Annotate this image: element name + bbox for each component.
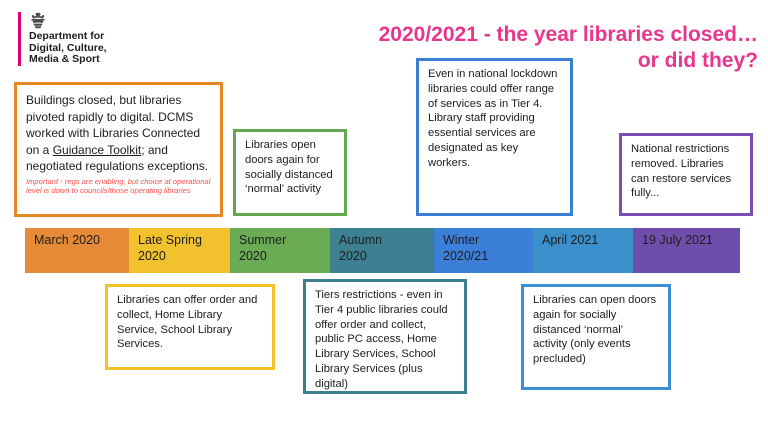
callout-orange-text: Buildings closed, but libraries pivoted … bbox=[26, 92, 212, 175]
callout-box-march-2020: Buildings closed, but libraries pivoted … bbox=[14, 82, 223, 217]
timeline-segment-april-2021[interactable]: April 2021 bbox=[533, 228, 633, 273]
timeline-segment-autumn-2020[interactable]: Autumn 2020 bbox=[330, 228, 434, 273]
callout-teal-text: Tiers restrictions - even in Tier 4 publ… bbox=[315, 288, 456, 392]
callout-yellow-text: Libraries can offer order and collect, H… bbox=[117, 293, 264, 352]
page-title-line-1: 2020/2021 - the year libraries closed… bbox=[318, 22, 758, 48]
callout-box-winter-lockdown: Even in national lockdown libraries coul… bbox=[416, 58, 573, 216]
timeline-segment-winter-2020-21[interactable]: Winter 2020/21 bbox=[434, 228, 533, 273]
slide-canvas: Department for Digital, Culture, Media &… bbox=[0, 0, 768, 432]
callout-box-april-2021: Libraries can open doors again for socia… bbox=[521, 284, 671, 390]
callout-box-summer-2020: Libraries open doors again for socially … bbox=[233, 129, 347, 216]
timeline-segment-19-july-2021[interactable]: 19 July 2021 bbox=[633, 228, 740, 273]
timeline-bar: March 2020 Late Spring 2020 Summer 2020 … bbox=[25, 228, 740, 273]
timeline-segment-late-spring-2020[interactable]: Late Spring 2020 bbox=[129, 228, 230, 273]
callout-blue-top-text: Even in national lockdown libraries coul… bbox=[428, 67, 562, 171]
dcms-logo: Department for Digital, Culture, Media &… bbox=[18, 12, 138, 66]
callout-box-autumn-2020: Tiers restrictions - even in Tier 4 publ… bbox=[303, 279, 467, 394]
royal-crest-icon bbox=[29, 12, 138, 29]
callout-blue-bottom-text: Libraries can open doors again for socia… bbox=[533, 293, 660, 367]
callout-orange-note: Important - regs are enabling, but choic… bbox=[26, 177, 212, 196]
callout-green-text: Libraries open doors again for socially … bbox=[245, 138, 336, 197]
timeline-segment-summer-2020[interactable]: Summer 2020 bbox=[230, 228, 330, 273]
callout-purple-text: National restrictions removed. Libraries… bbox=[631, 142, 742, 201]
guidance-toolkit-link[interactable]: Guidance Toolkit bbox=[53, 143, 142, 157]
dcms-logo-text: Department for Digital, Culture, Media &… bbox=[29, 31, 138, 66]
callout-box-late-spring-2020: Libraries can offer order and collect, H… bbox=[105, 284, 275, 370]
timeline-segment-march-2020[interactable]: March 2020 bbox=[25, 228, 129, 273]
callout-box-19-july-2021: National restrictions removed. Libraries… bbox=[619, 133, 753, 216]
